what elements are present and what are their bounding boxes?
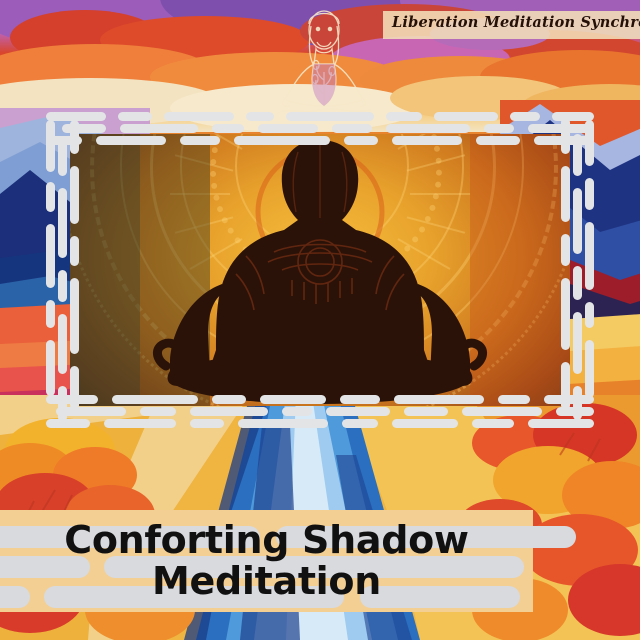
album-cover: Liberation Meditation Synchronization Co… bbox=[0, 0, 640, 640]
mandala-rays bbox=[70, 134, 570, 406]
center-artwork-panel bbox=[70, 134, 570, 406]
album-title: Conforting Shadow Meditation bbox=[0, 510, 533, 612]
top-banner-text: Liberation Meditation Synchronization bbox=[392, 14, 640, 31]
line-art-meditating-figure-icon bbox=[272, 2, 376, 118]
top-banner: Liberation Meditation Synchronization bbox=[383, 11, 640, 39]
album-title-line1: Conforting Shadow bbox=[64, 520, 468, 561]
album-title-line2: Meditation bbox=[152, 561, 381, 602]
